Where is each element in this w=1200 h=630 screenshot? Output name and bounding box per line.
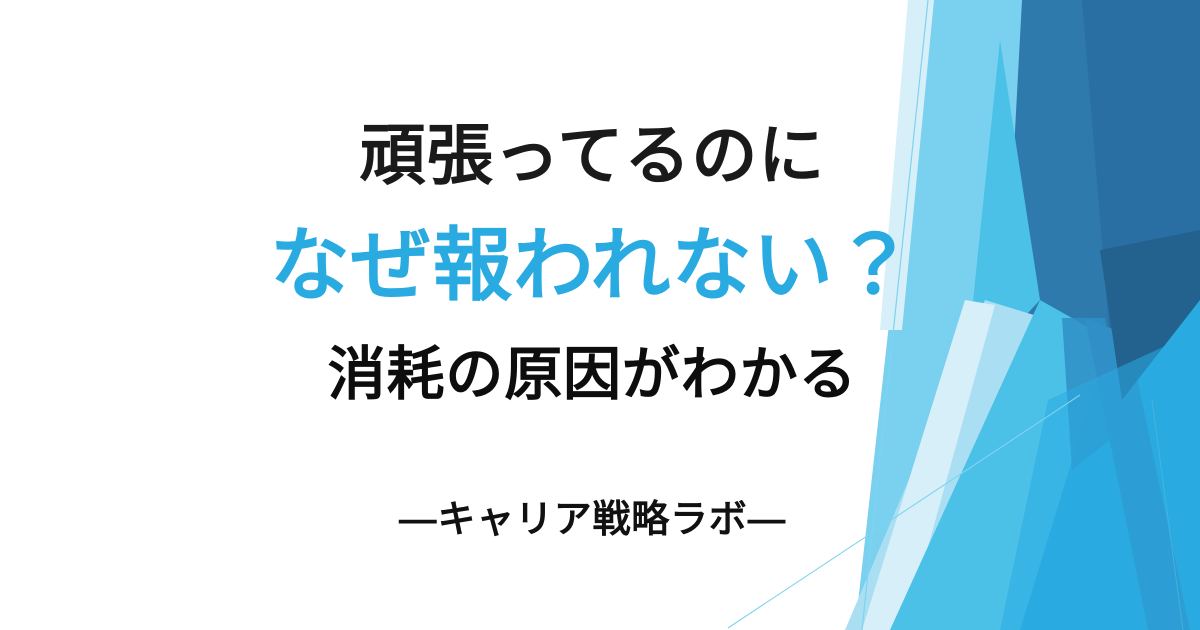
footer-brand-label: ―キャリア戦略ラボ―	[399, 488, 787, 543]
title-line-1: 頑張ってるのに	[360, 122, 826, 188]
title-text-block: 頑張ってるのに なぜ報われない？ 消耗の原因がわかる ―キャリア戦略ラボ―	[0, 0, 1185, 630]
slide-canvas: 頑張ってるのに なぜ報われない？ 消耗の原因がわかる ―キャリア戦略ラボ―	[0, 0, 1200, 630]
title-line-2-accent: なぜ報われない？	[270, 226, 916, 306]
title-line-3: 消耗の原因がわかる	[328, 346, 858, 404]
